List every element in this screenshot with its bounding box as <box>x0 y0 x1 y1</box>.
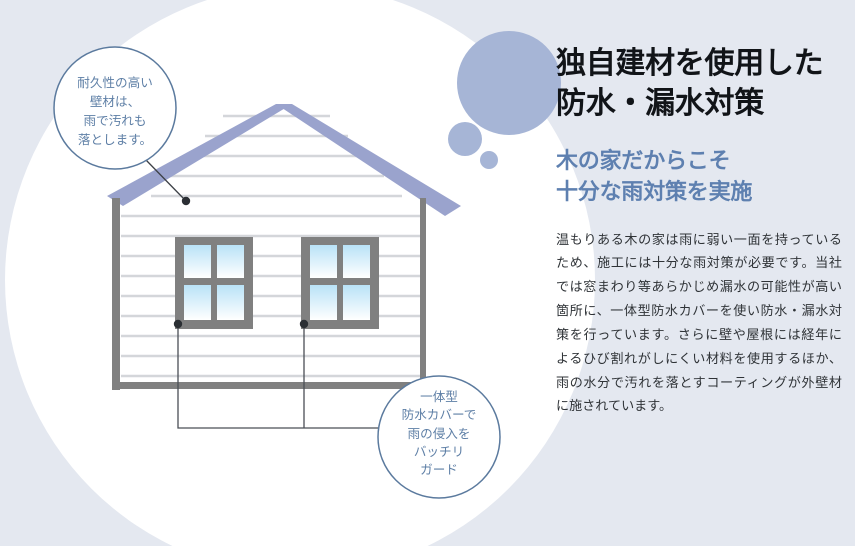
decor-circle-medium <box>448 122 482 156</box>
waterproof-cover-callout-bubble <box>378 376 500 498</box>
subheading-line-2: 十分な雨対策を実施 <box>556 176 848 207</box>
leader-dot-window-left <box>174 320 182 328</box>
house-wall <box>118 198 426 388</box>
headline-line-1: 独自建材を使用した <box>556 47 823 80</box>
window-left <box>175 237 253 329</box>
house-left-post <box>112 198 120 390</box>
body-paragraph: 温もりある木の家は雨に弱い一面を持っているため、施工には十分な雨対策が必要です。… <box>556 228 842 419</box>
headline-line-2: 防水・漏水対策 <box>556 84 848 124</box>
house-right-post <box>420 198 426 390</box>
house-foundation-sill <box>112 382 426 389</box>
page-subtitle: 木の家だからこそ 十分な雨対策を実施 <box>556 145 848 207</box>
text-column: 独自建材を使用した 防水・漏水対策 木の家だからこそ 十分な雨対策を実施 温もり… <box>556 44 848 418</box>
subheading-line-1: 木の家だからこそ <box>556 148 730 173</box>
decor-circle-large <box>457 31 561 135</box>
infographic-slide: 耐久性の高い 壁材は、 雨で汚れも 落とします。 一体型 防水カバーで 雨の侵入… <box>0 0 855 546</box>
durability-callout-bubble <box>54 47 176 169</box>
window-right <box>301 237 379 329</box>
leader-dot-window-right <box>300 320 308 328</box>
page-title: 独自建材を使用した 防水・漏水対策 <box>556 44 848 123</box>
decor-circle-small <box>480 151 498 169</box>
